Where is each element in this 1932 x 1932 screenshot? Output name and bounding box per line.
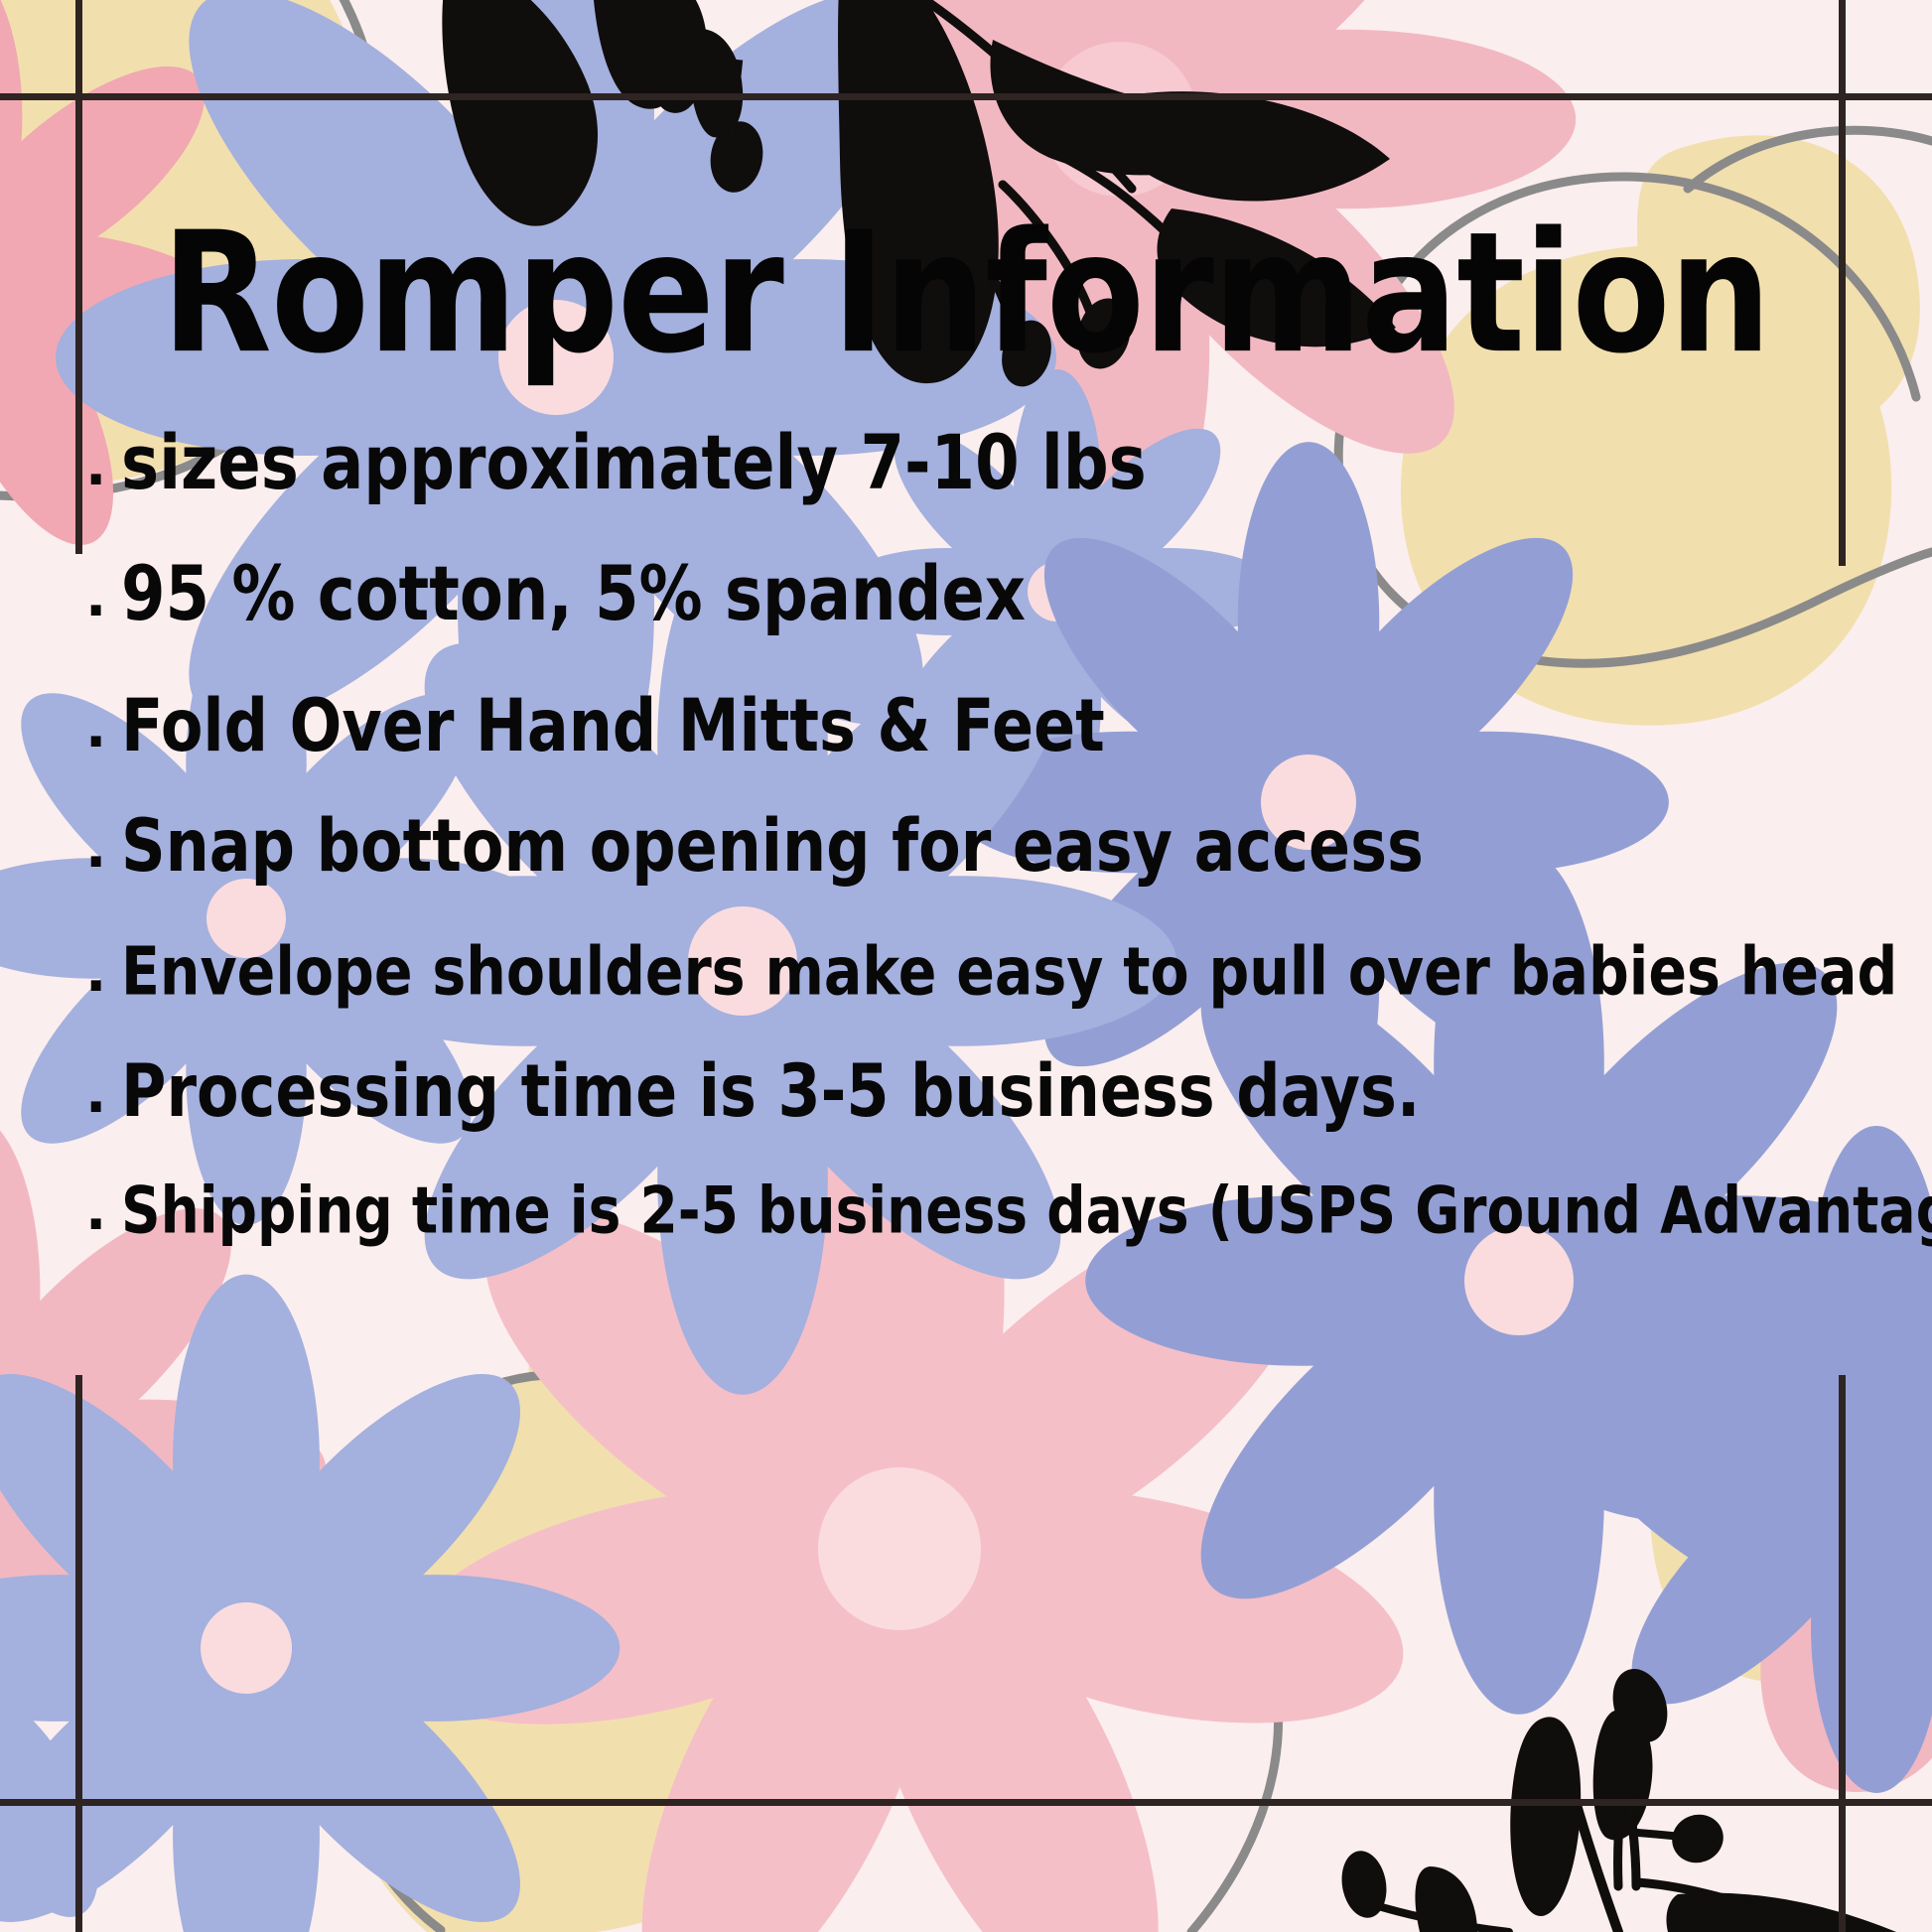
- list-item: . Fold Over Hand Mitts & Feet: [85, 689, 1902, 761]
- bullet-marker-icon: .: [85, 701, 121, 757]
- list-item: . Processing time is 3-5 business days.: [85, 1054, 1902, 1127]
- list-item: . sizes approximately 7-10 lbs: [85, 427, 1902, 500]
- list-item-label: Shipping time is 2-5 business days (USPS…: [121, 1173, 1932, 1248]
- list-item-label: 95 % cotton, 5% spandex: [121, 551, 1902, 637]
- page-title: Romper Information: [39, 210, 1893, 377]
- list-item: . Snap bottom opening for easy access: [85, 809, 1902, 882]
- content-layer: Romper Information . sizes approximately…: [0, 0, 1932, 1932]
- list-item-label: sizes approximately 7-10 lbs: [121, 420, 1902, 506]
- list-item-label: Snap bottom opening for easy access: [121, 802, 1902, 888]
- list-item-label: Envelope shoulders make easy to pull ove…: [121, 933, 1902, 1011]
- list-item: . Envelope shoulders make easy to pull o…: [85, 939, 1902, 1005]
- list-item-label: Processing time is 3-5 business days.: [121, 1047, 1902, 1133]
- list-item: . 95 % cotton, 5% spandex: [85, 558, 1902, 631]
- bullet-marker-icon: .: [85, 945, 121, 1001]
- list-item: . Shipping time is 2-5 business days (US…: [85, 1178, 1902, 1242]
- romper-information-graphic: Romper Information . sizes approximately…: [0, 0, 1932, 1932]
- bullet-marker-icon: .: [85, 821, 121, 877]
- bullet-marker-icon: .: [85, 1183, 121, 1239]
- bullet-marker-icon: .: [85, 1066, 121, 1122]
- bullet-marker-icon: .: [85, 570, 121, 625]
- bullet-marker-icon: .: [85, 439, 121, 494]
- list-item-label: Fold Over Hand Mitts & Feet: [121, 682, 1902, 767]
- romper-details-list: . sizes approximately 7-10 lbs . 95 % co…: [85, 427, 1902, 1242]
